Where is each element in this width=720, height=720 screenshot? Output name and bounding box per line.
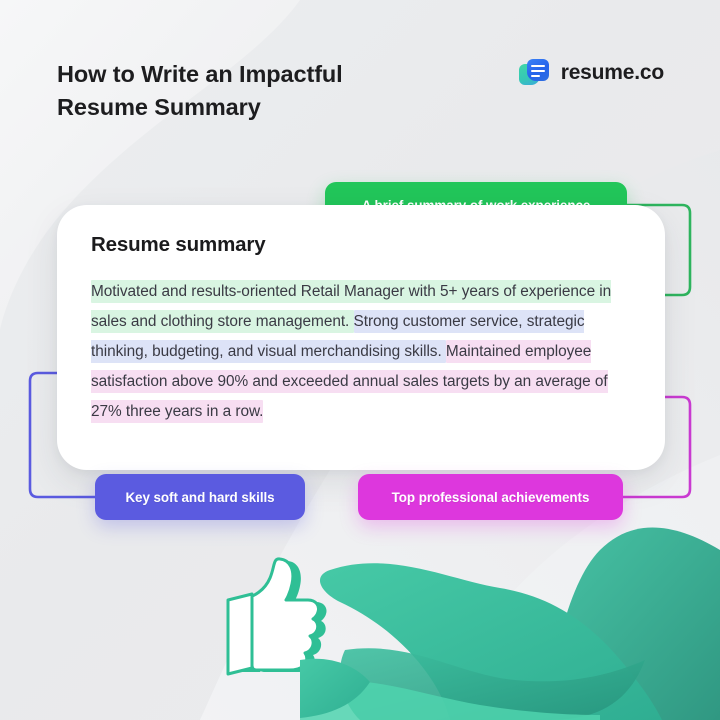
page-title-line1: How to Write an Impactful (57, 61, 343, 87)
badge-skills[interactable]: Key soft and hard skills (95, 474, 305, 520)
badge-skills-label: Key soft and hard skills (125, 490, 274, 505)
card-title: Resume summary (91, 233, 266, 257)
brand-name: resume.co (561, 61, 664, 85)
page-title: How to Write an Impactful Resume Summary (57, 58, 397, 124)
resume-summary-card: Resume summary Motivated and results-ori… (57, 205, 665, 470)
page-title-line2: Resume Summary (57, 91, 397, 124)
badge-achievements-label: Top professional achievements (392, 490, 590, 505)
leaf-waves-icon (300, 510, 720, 720)
document-lines-icon (519, 57, 551, 89)
summary-text: Motivated and results-oriented Retail Ma… (91, 277, 639, 427)
brand-logo[interactable]: resume.co (519, 56, 664, 90)
infographic-canvas: How to Write an Impactful Resume Summary… (0, 0, 720, 720)
